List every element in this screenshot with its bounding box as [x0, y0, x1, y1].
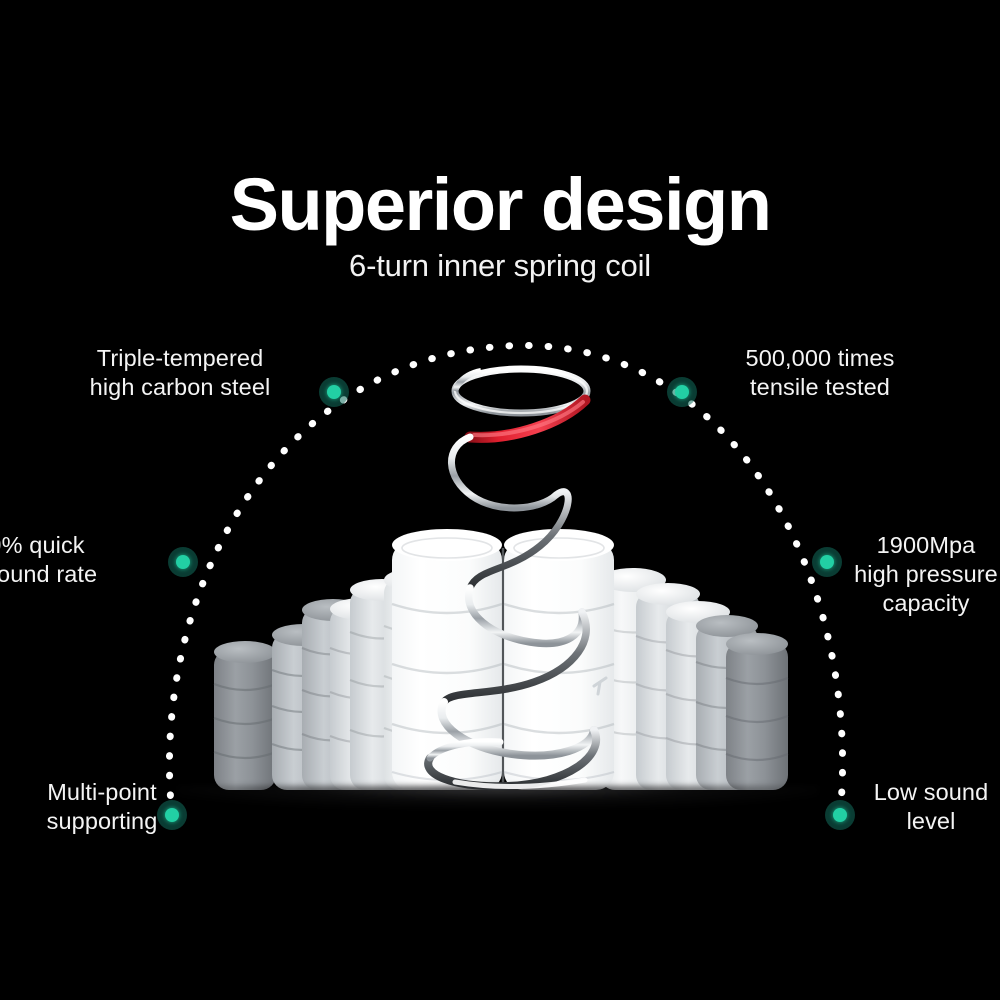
callout-label-tensile-tested: 500,000 times tensile tested [700, 344, 940, 402]
callout-label-quick-rebound-rate: 99% quick rebound rate [0, 531, 120, 589]
callout-dot-icon-steel[interactable] [319, 377, 349, 407]
dot-core [833, 808, 847, 822]
callout-label-low-sound-level: Low sound level [862, 778, 1000, 836]
callout-dot-icon-pressure[interactable] [812, 547, 842, 577]
page-subtitle: 6-turn inner spring coil [0, 248, 1000, 284]
callout-label-triple-tempered-high-carbon-steel: Triple-tempered high carbon steel [60, 344, 300, 402]
dot-core [176, 555, 190, 569]
dotted-callout-arc [0, 0, 1000, 1000]
callout-dot-icon-rebound[interactable] [168, 547, 198, 577]
dot-core [820, 555, 834, 569]
page-title: Superior design [0, 168, 1000, 242]
dot-core [675, 385, 689, 399]
callout-label-multi-point-supporting: Multi-point supporting [22, 778, 182, 836]
callout-dot-icon-sound[interactable] [825, 800, 855, 830]
callout-label-high-pressure-capacity: 1900Mpa high pressure capacity [852, 531, 1000, 618]
poster-canvas: Superior design 6-turn inner spring coil… [0, 0, 1000, 1000]
dot-core [327, 385, 341, 399]
callout-dot-icon-tensile[interactable] [667, 377, 697, 407]
